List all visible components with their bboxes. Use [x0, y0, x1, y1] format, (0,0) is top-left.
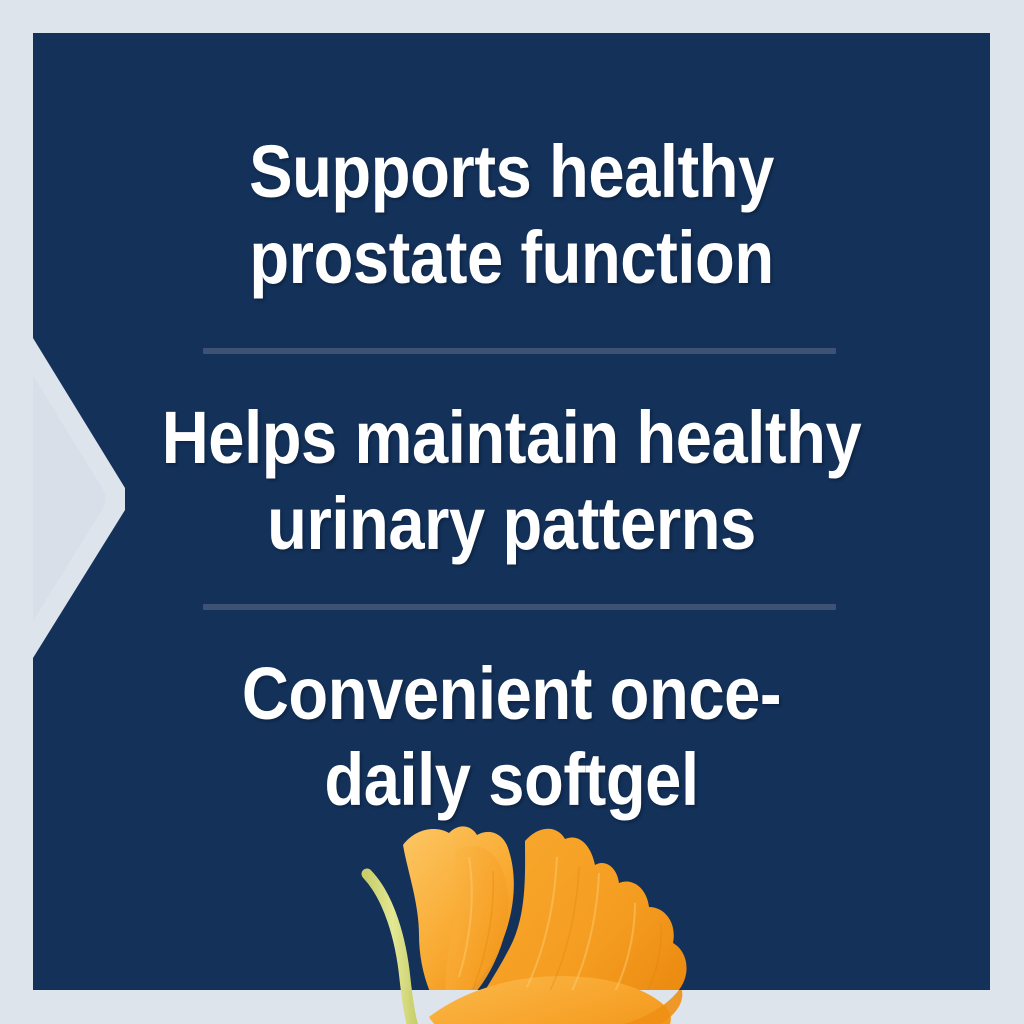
- benefit-item-prostate-function: Supports healthy prostate function: [90, 129, 932, 301]
- navy-panel: Supports healthy prostate function Helps…: [33, 33, 990, 990]
- product-benefits-graphic: Supports healthy prostate function Helps…: [0, 0, 1024, 1024]
- benefits-list: Supports healthy prostate function Helps…: [33, 33, 990, 990]
- benefit-divider-2: [203, 604, 836, 610]
- benefit-divider-1: [203, 348, 836, 354]
- benefit-item-urinary-patterns: Helps maintain healthy urinary patterns: [90, 395, 932, 567]
- benefit-item-once-daily-softgel: Convenient once- daily softgel: [90, 651, 932, 823]
